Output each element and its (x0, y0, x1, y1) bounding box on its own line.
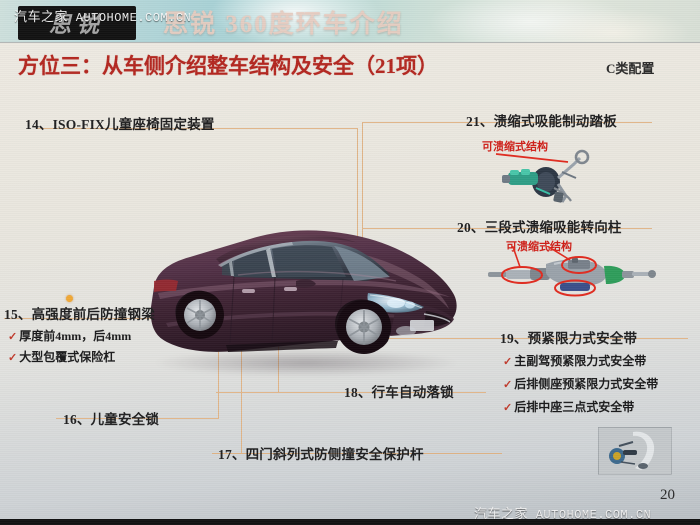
callout-dot-extra-2 (66, 295, 73, 302)
check-icon: ✓ (503, 379, 512, 391)
check-icon: ✓ (8, 352, 17, 364)
callout-label-15: 15、高强度前后防撞钢梁 (4, 303, 155, 323)
callout-label-21: 21、溃缩式吸能制动踏板 (466, 110, 617, 130)
banner-title: 思锐 360度环车介绍 (163, 4, 404, 40)
steering-column-figure (482, 246, 662, 307)
callout-label-19: 19、预紧限力式安全带 (500, 327, 637, 347)
callout-label-20: 20、三段式溃缩吸能转向柱 (457, 216, 622, 236)
watermark-top: 汽车之家 AUTOHOME.COM.CN (14, 6, 191, 25)
screen-frame-bottom (0, 519, 700, 525)
car-illustration (138, 215, 468, 400)
config-tag: C类配置 (606, 58, 654, 77)
check-icon: ✓ (503, 402, 512, 414)
callout-sub-19-2: ✓后排侧座预紧限力式安全带 (503, 375, 658, 392)
seatbelt-retractor-photo (598, 427, 672, 475)
car-shadow (156, 350, 456, 376)
callout-sub-15-1: ✓厚度前4mm，后4mm (8, 327, 131, 344)
presentation-slide: 思锐 360度环车介绍 思锐 方位三：从车侧介绍整车结构及安全（21项） C类配… (0, 0, 700, 525)
callout-sub-19-3: ✓后排中座三点式安全带 (503, 398, 634, 415)
page-title: 方位三：从车侧介绍整车结构及安全（21项） (18, 50, 438, 80)
callout-label-17: 17、四门斜列式防侧撞安全保护杆 (218, 443, 424, 463)
callout-label-16: 16、儿童安全锁 (63, 408, 159, 428)
callout-sub-15-2: ✓大型包覆式保险杠 (8, 348, 115, 365)
check-icon: ✓ (8, 331, 17, 343)
page-number: 20 (660, 487, 675, 504)
callout-label-14: 14、ISO-FIX儿童座椅固定装置 (25, 113, 215, 133)
check-icon: ✓ (503, 356, 512, 368)
watermark-cn-text: 汽车之家 (14, 9, 68, 24)
banner-divider (0, 42, 700, 43)
callout-label-18: 18、行车自动落锁 (344, 381, 454, 401)
callout-sub-19-1: ✓主副驾预紧限力式安全带 (503, 352, 646, 369)
watermark-url-text: AUTOHOME.COM.CN (76, 11, 192, 25)
brake-pedal-figure (492, 148, 622, 211)
